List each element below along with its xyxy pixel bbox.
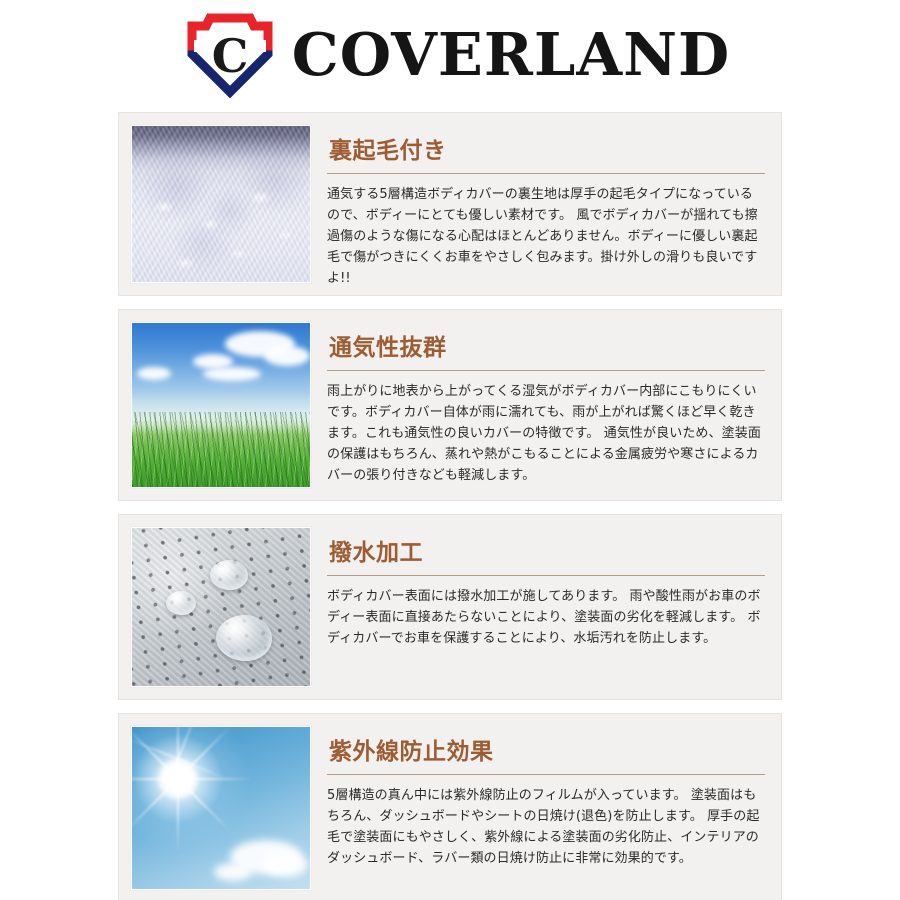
feature-body: ボディカバー表面には撥水加工が施してあります。 雨や酸性雨がお車のボディー表面に… [327,586,765,649]
sun-core-icon [158,759,198,799]
feature-panel-water-repellent: 撥水加工 ボディカバー表面には撥水加工が施してあります。 雨や酸性雨がお車のボデ… [118,514,782,700]
feature-text-block: 撥水加工 ボディカバー表面には撥水加工が施してあります。 雨や酸性雨がお車のボデ… [327,527,767,649]
feature-panel-fleece-lining: 裏起毛付き 通気する5層構造ボディカバーの裏生地は厚手の起毛タイプになっているの… [118,112,782,296]
feature-body: 5層構造の真ん中には紫外線防止のフィルムが入っています。 塗装面はもちろん、ダッ… [327,785,765,869]
coverland-shield-logo-icon: C [184,10,276,98]
grass-texture [132,412,310,487]
feature-body: 通気する5層構造ボディカバーの裏生地は厚手の起毛タイプになっているので、ボディー… [327,184,765,289]
feature-panel-list: 裏起毛付き 通気する5層構造ボディカバーの裏生地は厚手の起毛タイプになっているの… [118,112,782,900]
feature-title: 裏起毛付き [329,139,765,164]
title-divider [327,774,765,775]
feature-image-white-fleece-fabric [131,125,311,283]
water-droplet-shape [210,560,248,590]
feature-text-block: 通気性抜群 雨上がりに地表から上がってくる湿気がボディカバー内部にこもりにくいで… [327,322,767,487]
cloud-shape-icon [137,367,171,380]
feature-panel-uv-protection: 紫外線防止効果 5層構造の真ん中には紫外線防止のフィルムが入っています。 塗装面… [118,713,782,900]
logo-letter: C [211,29,248,83]
feature-image-blue-sky-grass-field [131,322,311,488]
feature-text-block: 裏起毛付き 通気する5層構造ボディカバーの裏生地は厚手の起毛タイプになっているの… [327,125,767,290]
feature-title: 通気性抜群 [329,336,765,361]
brand-header: C COVERLAND [0,0,900,108]
brand-wordmark: COVERLAND [292,25,730,84]
feature-image-water-droplets-on-fabric [131,527,311,687]
cloud-shape-icon [264,346,310,366]
feature-image-bright-sun-blue-sky [131,726,311,890]
title-divider [327,370,765,371]
water-droplet-shape [166,591,196,615]
title-divider [327,575,765,576]
title-divider [327,173,765,174]
water-droplet-shape [216,615,272,661]
feature-panel-breathability: 通気性抜群 雨上がりに地表から上がってくる湿気がボディカバー内部にこもりにくいで… [118,309,782,501]
cloud-shape-icon [203,367,261,381]
cloud-shape-icon [214,863,252,881]
feature-title: 紫外線防止効果 [329,740,765,765]
feature-text-block: 紫外線防止効果 5層構造の真ん中には紫外線防止のフィルムが入っています。 塗装面… [327,726,767,869]
cloud-shape-icon [264,853,308,877]
feature-title: 撥水加工 [329,541,765,566]
product-feature-page: C COVERLAND 裏起毛付き 通気する5層構造ボディカバーの裏生地は厚手の… [0,0,900,900]
feature-body: 雨上がりに地表から上がってくる湿気がボディカバー内部にこもりにくいです。ボディカ… [327,381,765,486]
